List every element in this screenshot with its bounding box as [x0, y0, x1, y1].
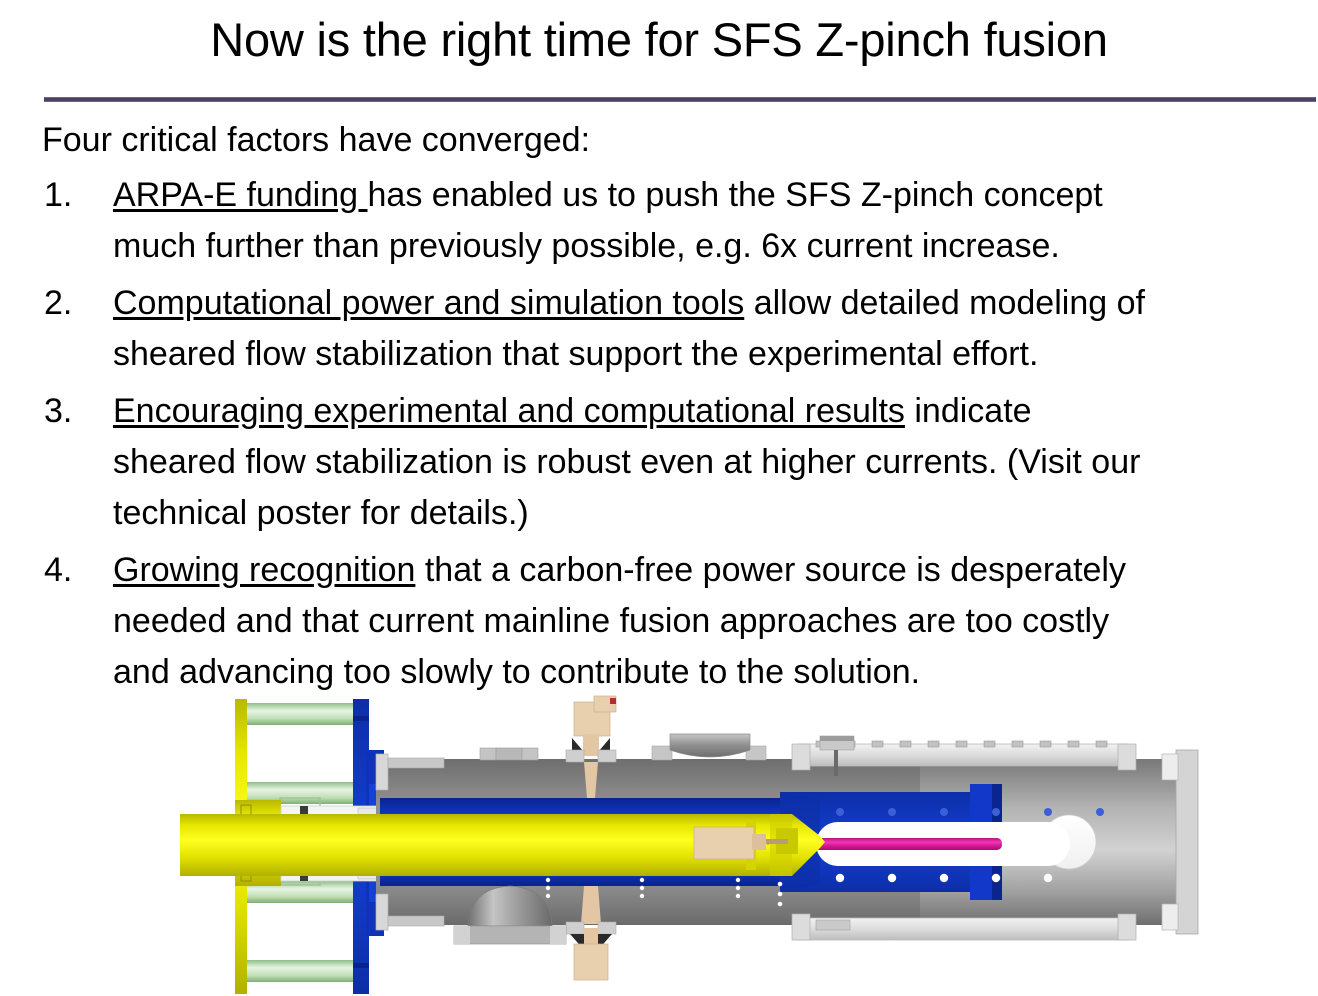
factor-rest-3: indicate: [905, 392, 1032, 430]
stud-pair-top: [480, 748, 538, 760]
lead-text: Four critical factors have converged:: [42, 116, 1318, 164]
factor-emphasis-1: ARPA-E funding: [113, 176, 368, 214]
factor-rest-4: that a carbon-free power source is despe…: [415, 551, 1126, 589]
factor-rest-1: has enabled us to push the SFS Z-pinch c…: [368, 176, 1103, 214]
z-pinch-device-diagram: [180, 688, 1220, 996]
factor-continuation-2: sheared flow stabilization that support …: [113, 329, 1318, 380]
electrode-hole-row-cone: [778, 882, 783, 907]
factor-continuation-3: sheared flow stabilization is robust eve…: [113, 437, 1318, 488]
factors-list: 1.ARPA-E funding has enabled us to push …: [42, 170, 1318, 698]
content-body: Four critical factors have converged: 1.…: [42, 116, 1318, 698]
factor-emphasis-4: Growing recognition: [113, 551, 415, 589]
factor-emphasis-3: Encouraging experimental and computation…: [113, 392, 905, 430]
factor-item-3: 3.Encouraging experimental and computati…: [42, 386, 1318, 539]
stud-port-bottom: [816, 920, 850, 930]
page-title: Now is the right time for SFS Z-pinch fu…: [0, 12, 1318, 68]
gray-disc-port-top: [652, 734, 766, 760]
factor-continuation-4: needed and that current mainline fusion …: [113, 596, 1318, 647]
factor-item-2: 2.Computational power and simulation too…: [42, 278, 1318, 380]
factor-item-4: 4.Growing recognition that a carbon-free…: [42, 545, 1318, 698]
factor-number-2: 2.: [44, 278, 94, 329]
factor-continuation-1: much further than previously possible, e…: [113, 221, 1318, 272]
title-divider: [44, 97, 1316, 102]
factor-rest-2: allow detailed modeling of: [744, 284, 1145, 322]
factor-number-3: 3.: [44, 386, 94, 437]
factor-continuation-3b: technical poster for details.): [113, 488, 1318, 539]
factor-item-1: 1.ARPA-E funding has enabled us to push …: [42, 170, 1318, 272]
factor-emphasis-2: Computational power and simulation tools: [113, 284, 744, 322]
factor-number-4: 4.: [44, 545, 94, 596]
factor-number-1: 1.: [44, 170, 94, 221]
